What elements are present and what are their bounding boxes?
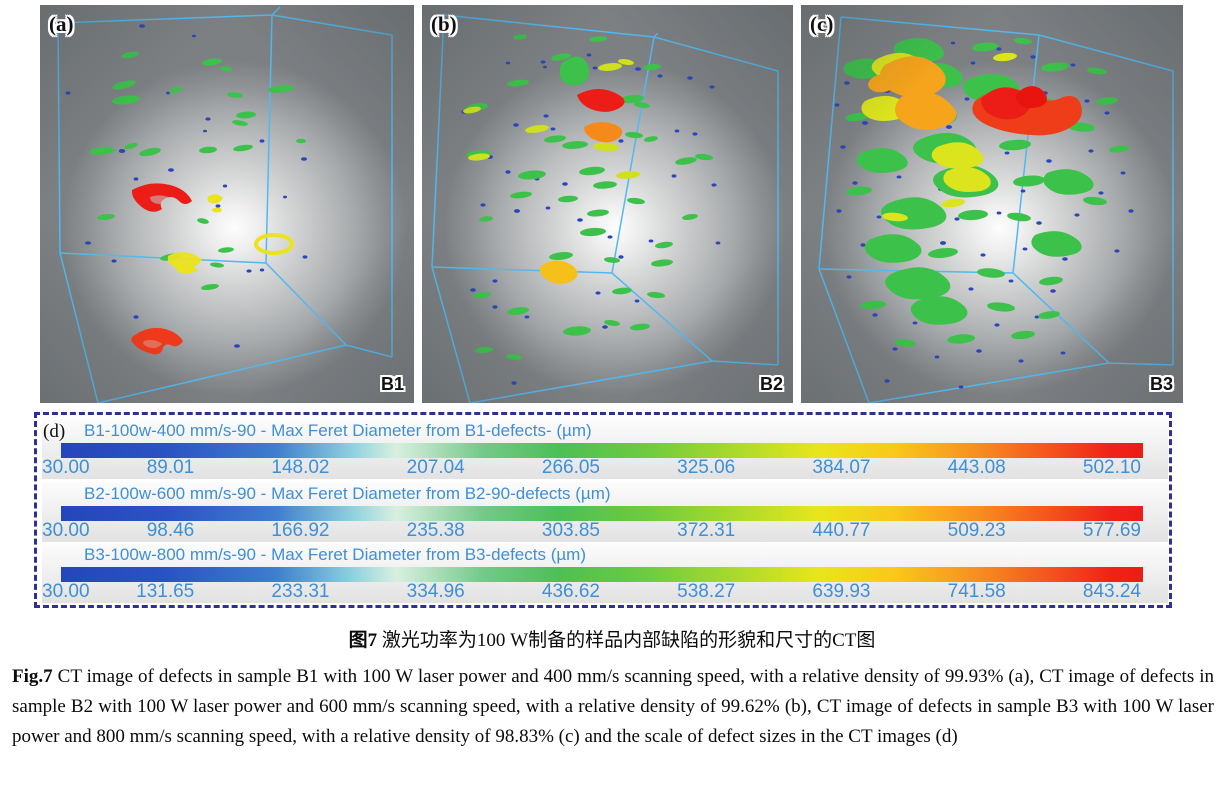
bounding-box-wireframe-a	[58, 7, 392, 403]
colorbar-title-b1: B1-100w-400 mm/s-90 - Max Feret Diameter…	[84, 420, 592, 442]
colorbar-tick: 639.93	[812, 581, 870, 603]
colorbar-ticks-b1: 30.00 89.01 148.02 207.04 266.05 325.06 …	[42, 457, 1168, 479]
ct-defects-svg-b	[422, 5, 793, 403]
colorbar-tick: 741.58	[948, 581, 1006, 603]
colorbar-tick: 443.08	[948, 457, 1006, 479]
colorbar-title-b2: B2-100w-600 mm/s-90 - Max Feret Diameter…	[84, 483, 611, 505]
large-defect-orange-b	[584, 122, 622, 142]
colorbar-tick: 266.05	[542, 457, 600, 479]
figure-caption: 图7 激光功率为100 W制备的样品内部缺陷的形貌和尺寸的CT图 Fig.7 C…	[0, 618, 1224, 790]
colorbar-b2: B2-100w-600 mm/s-90 - Max Feret Diameter…	[42, 482, 1168, 542]
defect-cluster-c	[835, 37, 1134, 388]
large-defect-yellow-b	[540, 260, 578, 284]
colorbar-title-b3: B3-100w-800 mm/s-90 - Max Feret Diameter…	[84, 544, 586, 566]
bounding-box-wireframe-b	[432, 15, 778, 403]
large-defect-red-a2	[131, 328, 183, 355]
colorbar-tick: 436.62	[542, 581, 600, 603]
colorbar-ticks-b2: 30.00 98.46 166.92 235.38 303.85 372.31 …	[42, 520, 1168, 542]
caption-chinese-text: 激光功率为100 W制备的样品内部缺陷的形貌和尺寸的CT图	[382, 630, 875, 651]
sample-label-b2: B2	[760, 374, 783, 395]
colorbar-tick: 843.24	[1083, 581, 1141, 603]
colorbar-tick: 372.31	[677, 520, 735, 542]
colorbar-tick: 89.01	[147, 457, 195, 479]
colorbar-b1: B1-100w-400 mm/s-90 - Max Feret Diameter…	[42, 419, 1168, 479]
sample-label-b3: B3	[1150, 374, 1173, 395]
colorbar-ticks-b3: 30.00 131.65 233.31 334.96 436.62 538.27…	[42, 581, 1168, 603]
panel-label-b: (b)	[431, 12, 457, 37]
colorbar-tick: 30.00	[42, 581, 90, 603]
ct-defects-svg-a	[40, 5, 414, 403]
colorbar-tick: 235.38	[407, 520, 465, 542]
caption-english-text: CT image of defects in sample B1 with 10…	[12, 666, 1214, 747]
colorbar-tick: 384.07	[812, 457, 870, 479]
colorbar-tick: 303.85	[542, 520, 600, 542]
large-defect-red-b	[577, 89, 625, 112]
legend-panel-d: (d) B1-100w-400 mm/s-90 - Max Feret Diam…	[34, 412, 1172, 608]
colorbar-tick: 30.00	[42, 520, 90, 542]
colorbar-gradient-b3	[61, 567, 1143, 582]
colorbar-tick: 538.27	[677, 581, 735, 603]
panel-label-c: (c)	[810, 12, 833, 37]
ct-render-c	[801, 5, 1183, 403]
caption-english-label: Fig.7	[12, 666, 53, 687]
colorbar-tick: 334.96	[407, 581, 465, 603]
ct-panel-c: (c) B3	[801, 5, 1183, 403]
colorbar-tick: 166.92	[271, 520, 329, 542]
ct-defects-svg-c	[801, 5, 1183, 403]
caption-chinese: 图7 激光功率为100 W制备的样品内部缺陷的形貌和尺寸的CT图	[0, 618, 1224, 656]
colorbar-tick: 502.10	[1083, 457, 1141, 479]
colorbar-tick: 131.65	[136, 581, 194, 603]
ct-panel-row: (a) B1	[0, 0, 1224, 408]
colorbar-tick: 207.04	[407, 457, 465, 479]
ct-panel-a: (a) B1	[40, 5, 414, 403]
colorbar-tick: 325.06	[677, 457, 735, 479]
colorbar-gradient-b2	[61, 506, 1143, 521]
colorbar-tick: 148.02	[271, 457, 329, 479]
colorbar-tick: 577.69	[1083, 520, 1141, 542]
colorbar-tick: 98.46	[147, 520, 195, 542]
colorbar-gradient-b1	[61, 443, 1143, 458]
ct-panel-b: (b) B2	[422, 5, 793, 403]
panel-label-d: (d)	[43, 421, 79, 443]
colorbar-tick: 30.00	[42, 457, 90, 479]
defect-cluster-b	[461, 33, 720, 384]
ct-render-b	[422, 5, 793, 403]
caption-chinese-label: 图7	[349, 630, 378, 651]
ct-render-a	[40, 5, 414, 403]
colorbar-tick: 233.31	[271, 581, 329, 603]
caption-english: Fig.7 CT image of defects in sample B1 w…	[10, 662, 1214, 752]
sample-label-b1: B1	[381, 374, 404, 395]
colorbar-tick: 440.77	[812, 520, 870, 542]
colorbar-b3: B3-100w-800 mm/s-90 - Max Feret Diameter…	[42, 543, 1168, 603]
panel-label-a: (a)	[49, 12, 74, 37]
colorbar-tick: 509.23	[948, 520, 1006, 542]
